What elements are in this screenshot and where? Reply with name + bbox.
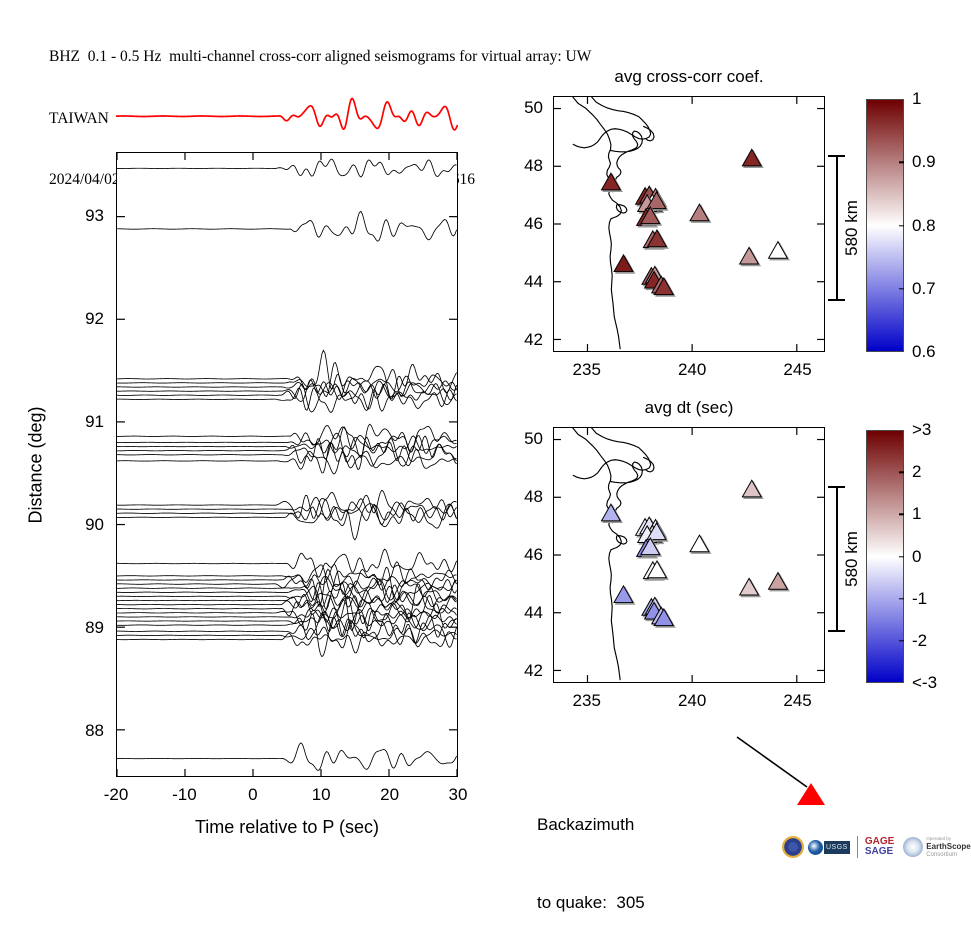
main-y-tick: 91 (85, 412, 104, 432)
main-x-tick: 10 (312, 785, 331, 805)
usgs-logo-icon: USGS (808, 840, 850, 855)
colorbar-notch (899, 598, 904, 599)
main-y-tick: 89 (85, 618, 104, 638)
backazimuth-arrow (735, 735, 865, 825)
colorbar-tick: 0 (912, 547, 921, 567)
colorbar-tick: 0.8 (912, 216, 936, 236)
main-x-axis-label: Time relative to P (sec) (195, 817, 379, 838)
map2-x-tick: 235 (573, 691, 601, 711)
map2-x-tick: 245 (783, 691, 811, 711)
main-y-tick: 93 (85, 206, 104, 226)
sponsor-logos: USGS GAGE SAGE Operated by EarthScope Co… (782, 832, 971, 862)
map1-x-tick: 245 (783, 360, 811, 380)
usgs-logo-label: USGS (824, 841, 850, 854)
main-x-tick: 0 (248, 785, 257, 805)
colorbar-notch (899, 225, 904, 226)
map1-y-tick: 46 (524, 214, 543, 234)
main-y-tick: 92 (85, 309, 104, 329)
map-avg-dt[interactable] (553, 427, 825, 683)
backazimuth-line-2: to quake: 305 (537, 890, 645, 916)
colorbar-notch (899, 162, 904, 163)
colorbar-tick: 2 (912, 462, 921, 482)
colorbar-tick: 0.6 (912, 342, 936, 362)
main-x-tick: -10 (172, 785, 197, 805)
colorbar-notch (899, 556, 904, 557)
colorbar-tick: -2 (912, 631, 927, 651)
sage-label: SAGE (865, 847, 894, 857)
logo-divider (857, 836, 858, 858)
map2-y-tick: 46 (524, 545, 543, 565)
map1-x-tick: 240 (678, 360, 706, 380)
colorbar-tick: <-3 (912, 673, 937, 693)
map2-y-tick: 42 (524, 661, 543, 681)
colorbar-notch (899, 288, 904, 289)
title-line-1: BHZ 0.1 - 0.5 Hz multi-channel cross-cor… (49, 47, 929, 68)
map2-title: avg dt (sec) (645, 398, 734, 418)
map1-y-tick: 48 (524, 156, 543, 176)
map1-scale-bar-label: 580 km (842, 200, 862, 256)
map1-y-tick: 42 (524, 330, 543, 350)
backazimuth-annotation: Backazimuth to quake: 305 (537, 760, 645, 942)
backazimuth-line-1: Backazimuth (537, 812, 645, 838)
colorbar-tick: 0.7 (912, 279, 936, 299)
earthscope-label: EarthScope (926, 843, 970, 851)
colorbar-tick: -1 (912, 589, 927, 609)
main-x-tick: 20 (380, 785, 399, 805)
main-y-tick: 88 (85, 721, 104, 741)
main-x-tick: -20 (104, 785, 129, 805)
map2-scale-bar-label: 580 km (842, 531, 862, 587)
colorbar-tick: 1 (912, 89, 921, 109)
main-x-tick: 30 (449, 785, 468, 805)
map2-y-tick: 48 (524, 487, 543, 507)
main-y-axis-label: Distance (deg) (26, 406, 47, 523)
earthscope-mark-icon (903, 837, 923, 857)
gage-sage-logo: GAGE SAGE (865, 837, 894, 857)
map2-x-tick: 240 (678, 691, 706, 711)
colorbar-notch (899, 471, 904, 472)
main-y-tick: 90 (85, 515, 104, 535)
seismogram-panel[interactable] (116, 152, 458, 777)
reference-trace (116, 84, 458, 146)
map1-y-tick: 50 (524, 98, 543, 118)
map2-y-tick: 50 (524, 429, 543, 449)
map-avg-cross-corr-coef[interactable] (553, 96, 825, 352)
map2-y-tick: 44 (524, 603, 543, 623)
colorbar-notch (899, 640, 904, 641)
nsf-logo-icon (782, 836, 804, 858)
colorbar-tick: 0.9 (912, 152, 936, 172)
map1-x-tick: 235 (573, 360, 601, 380)
colorbar-tick: >3 (912, 420, 931, 440)
earthscope-logo: Operated by EarthScope Consortium (903, 835, 970, 859)
earthscope-sub-label: Consortium (926, 851, 970, 859)
colorbar-tick: 1 (912, 504, 921, 524)
colorbar-notch (899, 514, 904, 515)
map1-title: avg cross-corr coef. (614, 67, 763, 87)
map1-y-tick: 44 (524, 272, 543, 292)
